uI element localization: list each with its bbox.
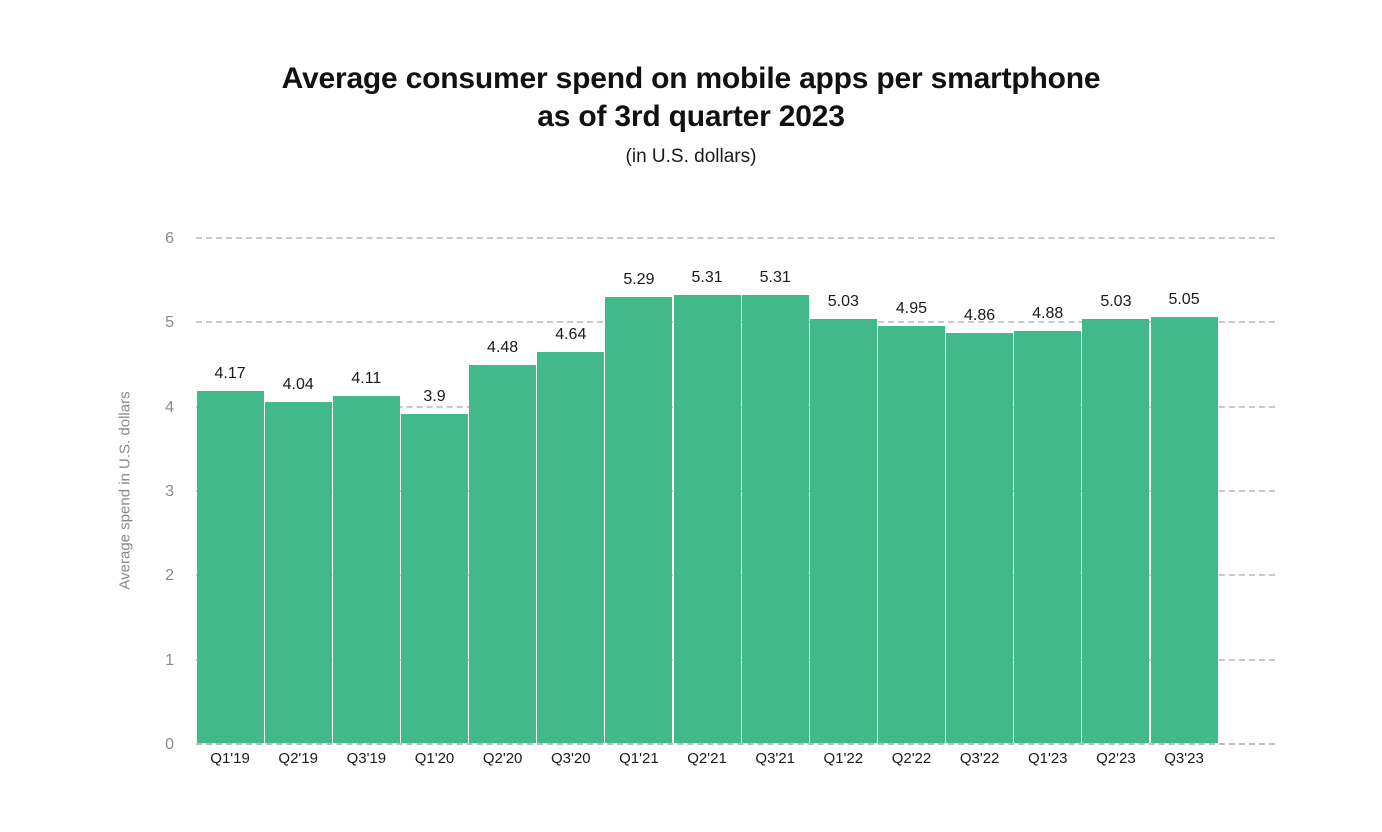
bar-slot: 4.48 [469,237,537,743]
bar-slot: 4.88 [1014,237,1082,743]
bar-value-label: 5.31 [691,269,722,287]
gridline: 0 [196,743,1275,745]
y-tick-label: 6 [165,230,174,248]
bar[interactable]: 5.05 [1151,317,1218,743]
y-tick-label: 2 [165,567,174,585]
chart-subtitle: (in U.S. dollars) [0,145,1382,169]
bar[interactable]: 4.17 [197,391,264,743]
x-tick-label: Q2'21 [673,750,741,767]
page-title: Average consumer spend on mobile apps pe… [281,60,1101,136]
x-tick-label: Q1'19 [196,750,264,767]
x-tick-label: Q2'23 [1082,750,1150,767]
bar-slot: 4.04 [264,237,332,743]
x-tick-label: Q3'22 [946,750,1014,767]
bar[interactable]: 5.03 [810,319,877,743]
y-axis-title-text: Average spend in U.S. dollars [117,391,134,589]
x-tick-label: Q3'21 [741,750,809,767]
y-tick-label: 4 [165,399,174,417]
bar-slot: 5.31 [741,237,809,743]
bar[interactable]: 5.03 [1082,319,1149,743]
bar-slot: 4.86 [946,237,1014,743]
x-tick-label: Q3'20 [537,750,605,767]
bar[interactable]: 4.48 [469,365,536,743]
bar-slot: 5.03 [1082,237,1150,743]
bar-slot: 4.64 [537,237,605,743]
bar[interactable]: 3.9 [401,414,468,743]
bar-slot: 3.9 [400,237,468,743]
y-tick-label: 3 [165,483,174,501]
y-tick-label: 5 [165,314,174,332]
bar[interactable]: 4.86 [946,333,1013,743]
bar-value-label: 4.64 [555,326,586,344]
bar-slot: 5.31 [673,237,741,743]
x-tick-label: Q1'21 [605,750,673,767]
bar-value-label: 5.05 [1168,291,1199,309]
y-tick-label: 0 [165,736,174,754]
bar[interactable]: 5.31 [674,295,741,743]
bar-value-label: 4.86 [964,307,995,325]
x-tick-label: Q2'22 [877,750,945,767]
bar-slot: 4.17 [196,237,264,743]
bar[interactable]: 5.29 [605,297,672,743]
bar-value-label: 4.11 [351,370,381,388]
bar-value-label: 4.95 [896,300,927,318]
bar[interactable]: 4.11 [333,396,400,743]
x-tick-label: Q2'20 [469,750,537,767]
bar-slot: 5.29 [605,237,673,743]
bar[interactable]: 5.31 [742,295,809,743]
bar-chart: Average consumer spend on mobile apps pe… [0,0,1382,832]
x-tick-label: Q1'22 [809,750,877,767]
bar-value-label: 4.88 [1032,305,1063,323]
bar-value-label: 5.29 [623,271,654,289]
y-axis-title: Average spend in U.S. dollars [112,237,138,743]
x-tick-label: Q1'20 [400,750,468,767]
bar-slot: 4.95 [877,237,945,743]
bar-value-label: 3.9 [423,388,445,406]
bar[interactable]: 4.04 [265,402,332,743]
bar-value-label: 5.03 [828,293,859,311]
bar[interactable]: 4.88 [1014,331,1081,743]
bar-value-label: 5.31 [760,269,791,287]
x-tick-label: Q3'23 [1150,750,1218,767]
bar[interactable]: 4.95 [878,326,945,743]
x-tick-label: Q1'23 [1014,750,1082,767]
bars-layer: 4.174.044.113.94.484.645.295.315.315.034… [196,237,1218,743]
bar-slot: 5.03 [809,237,877,743]
x-axis-labels: Q1'19Q2'19Q3'19Q1'20Q2'20Q3'20Q1'21Q2'21… [196,750,1218,767]
y-tick-label: 1 [165,652,174,670]
bar-value-label: 4.04 [283,376,314,394]
bar-value-label: 4.48 [487,339,518,357]
x-tick-label: Q2'19 [264,750,332,767]
chart-header: Average consumer spend on mobile apps pe… [0,60,1382,169]
bar-slot: 5.05 [1150,237,1218,743]
bar-value-label: 5.03 [1100,293,1131,311]
bar-value-label: 4.17 [214,365,245,383]
bar-slot: 4.11 [332,237,400,743]
x-tick-label: Q3'19 [332,750,400,767]
bar[interactable]: 4.64 [537,352,604,743]
